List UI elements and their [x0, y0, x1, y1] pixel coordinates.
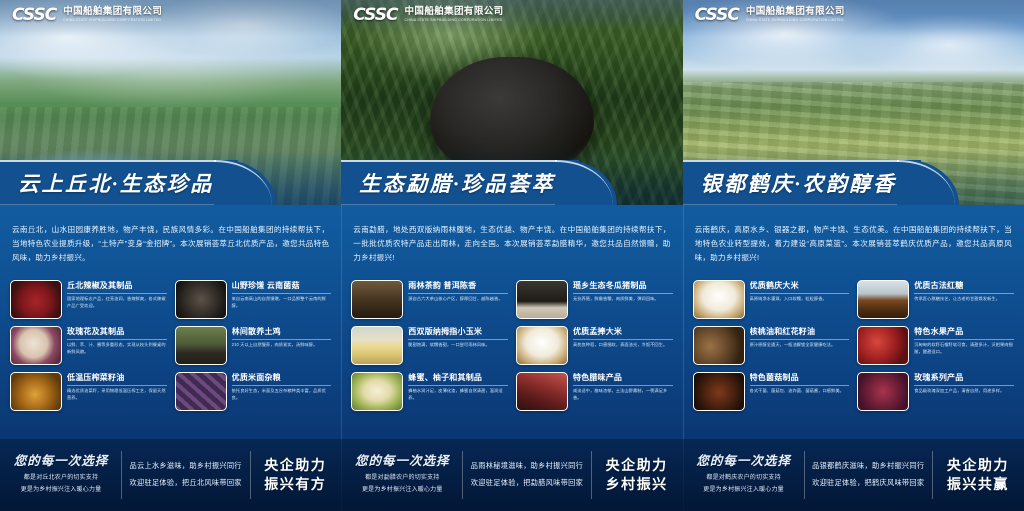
hero-banner: CSSC 中国船舶集团有限公司 CHINA STATE SHIPBUILDING… [0, 0, 341, 205]
product-card[interactable]: 核桃油和红花籽油 原汁原醇全通天，一瓶油解锁全家健康吃法。 [693, 326, 850, 365]
footer-slogan-block: 您的每一次选择 都是对鹤庆农户的切实支持 更是为乡村振兴注入暖心力量 [692, 455, 796, 496]
product-card[interactable]: 蜂蜜、柚子和其制品 蜂柚水润汁足，皮薄化渣，蜂蜜自然清甜，温润适养。 [351, 372, 508, 411]
product-title: 优质米面杂粮 [232, 373, 332, 386]
brand-text: 中国船舶集团有限公司 CHINA STATE SHIPBUILDING CORP… [746, 7, 845, 22]
product-card[interactable]: 瑶乡生态冬瓜猪制品 无抗养殖，鲜嫩香糯，肉质鲜美，弹润回味。 [516, 280, 673, 319]
footer-headline-block: 央企助力 振兴有方 [258, 456, 332, 494]
product-card[interactable]: 特色水果产品 沉甸甸的软籽石榴籽软可食，清甜多汁，沃柑果肉细腻，酸甜适口。 [857, 326, 1014, 365]
brand-name-en: CHINA STATE SHIPBUILDING CORPORATION LIM… [405, 18, 504, 22]
product-desc: 脆甜饱满，软糯香甜，一口尝尽雨林风味。 [408, 342, 508, 349]
brand-text: 中国船舶集团有限公司 CHINA STATE SHIPBUILDING CORP… [405, 7, 504, 22]
product-text: 优质米面杂粮 依托良好生态，米面及五谷杂粮种类丰富，品质优良。 [232, 372, 332, 402]
product-title: 特色菌菇制品 [750, 373, 850, 386]
footer-script-text: 您的每一次选择 [14, 455, 109, 469]
ribbon-curve [214, 160, 272, 205]
brand-logo-bar: CSSC 中国船舶集团有限公司 CHINA STATE SHIPBUILDING… [0, 0, 341, 30]
product-text: 瑶乡生态冬瓜猪制品 无抗养殖，鲜嫩香糯，肉质鲜美，弹润回味。 [573, 280, 673, 303]
footer-sub-line-1: 都是对鹤庆农户的切实支持 [706, 473, 780, 484]
footer-mid-line-2: 欢迎驻足体验，把丘北风味带回家 [129, 475, 241, 492]
product-card[interactable]: 低温压榨菜籽油 精选优质油菜籽，采用物理低温压榨工艺，保留天然营养。 [10, 372, 167, 411]
product-title: 玫瑰花及其制品 [67, 327, 167, 340]
product-text: 丘北辣椒及其制品 国家地理标志产品，红亮油润，香辣鲜爽，各式辣椒产品广受欢迎。 [67, 280, 167, 310]
cssc-logo-icon: CSSC [12, 7, 56, 24]
product-card[interactable]: 雨林茶韵 普洱陈香 源自古六大茶山核心产区，醇厚回甘，越陈越香。 [351, 280, 508, 319]
brand-logo-bar: CSSC 中国船舶集团有限公司 CHINA STATE SHIPBUILDING… [683, 0, 1024, 30]
product-title: 林间散养土鸡 [232, 327, 332, 340]
product-thumb-icon [10, 372, 62, 411]
title-ribbon: 生态勐腊·珍品荟萃 [341, 160, 682, 205]
product-desc: 蜂柚水润汁足，皮薄化渣，蜂蜜自然清甜，温润适养。 [408, 388, 508, 402]
product-text: 蜂蜜、柚子和其制品 蜂柚水润汁足，皮薄化渣，蜂蜜自然清甜，温润适养。 [408, 372, 508, 402]
product-text: 核桃油和红花籽油 原汁原醇全通天，一瓶油解锁全家健康吃法。 [750, 326, 850, 349]
product-thumb-icon [351, 326, 403, 365]
product-thumb-icon [175, 372, 227, 411]
product-desc: 沉甸甸的软籽石榴籽软可食，清甜多汁，沃柑果肉细腻，酸甜适口。 [914, 342, 1014, 356]
footer-sub-line-2: 更是为乡村振兴注入暖心力量 [703, 485, 784, 496]
title-ribbon: 银都鹤庆·农韵醇香 [683, 160, 1024, 205]
panel-intro: 云南勐腊，地处西双版纳雨林腹地，生态优越、物产丰饶。在中国船舶集团的持续帮扶下，… [341, 213, 682, 271]
product-title: 优质鹤庆大米 [750, 281, 850, 294]
product-grid: 丘北辣椒及其制品 国家地理标志产品，红亮油润，香辣鲜爽，各式辣椒产品广受欢迎。 … [0, 278, 341, 411]
product-desc: 高枕良种稻，口感细软，表面油光，冷饭不回生。 [573, 342, 673, 349]
product-text: 优质孟捧大米 高枕良种稻，口感细软，表面油光，冷饭不回生。 [573, 326, 673, 349]
footer-headline-line-1: 央企助力 [947, 456, 1009, 475]
product-grid: 优质鹤庆大米 高原纯净水灌溉，入口软糯，粒粒醇香。 优质古法红糖 传承匠心熬糖技… [683, 278, 1024, 411]
panel-title: 银都鹤庆·农韵醇香 [701, 168, 897, 198]
cssc-logo-icon: CSSC [695, 7, 739, 24]
cssc-logo-icon: CSSC [353, 7, 397, 24]
brand-name-cn: 中国船舶集团有限公司 [746, 7, 845, 18]
panel-footer: 您的每一次选择 都是对鹤庆农户的切实支持 更是为乡村振兴注入暖心力量 品银都鹤庆… [683, 439, 1024, 511]
footer-mid-line-2: 欢迎驻足体验，把鹤庆风味带回家 [812, 475, 924, 492]
panel-qiubei: CSSC 中国船舶集团有限公司 CHINA STATE SHIPBUILDING… [0, 0, 341, 511]
footer-mid-block: 品雨林秘境滋味，助乡村振兴同行 欢迎驻足体验，把勐腊风味带回家 [471, 458, 583, 491]
product-card[interactable]: 优质古法红糖 传承匠心熬糖技艺，让古老的甘甜焕发新生。 [857, 280, 1014, 319]
product-text: 西双版纳拇指小玉米 脆甜饱满，软糯香甜，一口尝尽雨林风味。 [408, 326, 508, 349]
footer-sub-line-1: 都是对丘北农户的切实支持 [24, 473, 98, 484]
product-text: 特色菌菇制品 各式干菌、菌菇包、油炸菌、菌菇酱，口感鲜美。 [750, 372, 850, 395]
product-card[interactable]: 优质鹤庆大米 高原纯净水灌溉，入口软糯，粒粒醇香。 [693, 280, 850, 319]
product-title: 核桃油和红花籽油 [750, 327, 850, 340]
product-thumb-icon [516, 280, 568, 319]
product-text: 山野珍馐 云南菌菇 来自云南高山的自然馈赠，一口品鲜整个云南的鲜醇。 [232, 280, 332, 310]
footer-sub-line-2: 更是为乡村振兴注入暖心力量 [362, 485, 443, 496]
ribbon-line [683, 160, 899, 162]
product-card[interactable]: 林间散养土鸡 210 天以上自然慢养，肉质紧实，汤鲜味醇。 [175, 326, 332, 365]
ribbon-curve [555, 160, 613, 205]
product-text: 特色水果产品 沉甸甸的软籽石榴籽软可食，清甜多汁，沃柑果肉细腻，酸甜适口。 [914, 326, 1014, 356]
product-grid: 雨林茶韵 普洱陈香 源自古六大茶山核心产区，醇厚回甘，越陈越香。 瑶乡生态冬瓜猪… [341, 278, 682, 411]
product-title: 特色腊味产品 [573, 373, 673, 386]
footer-headline-line-2: 振兴共赢 [947, 475, 1009, 494]
hero-banner: CSSC 中国船舶集团有限公司 CHINA STATE SHIPBUILDING… [341, 0, 682, 205]
panel-footer: 您的每一次选择 都是对勐腊农户的切实支持 更是为乡村振兴注入暖心力量 品雨林秘境… [341, 439, 682, 511]
footer-mid-line-1: 品云上水乡滋味，助乡村振兴同行 [129, 458, 241, 475]
panel-title: 云上丘北·生态珍品 [18, 168, 214, 198]
product-desc: 源自古六大茶山核心产区，醇厚回甘，越陈越香。 [408, 296, 508, 303]
product-thumb-icon [693, 326, 745, 365]
footer-script-text: 您的每一次选择 [696, 455, 791, 469]
footer-mid-line-2: 欢迎驻足体验，把勐腊风味带回家 [471, 475, 583, 492]
product-text: 特色腊味产品 咸淡适中，腊味浓郁，土法山野熏制，一筷满足乡香。 [573, 372, 673, 402]
product-title: 雨林茶韵 普洱陈香 [408, 281, 508, 294]
product-thumb-icon [351, 372, 403, 411]
product-thumb-icon [10, 326, 62, 365]
product-thumb-icon [351, 280, 403, 319]
product-thumb-icon [516, 326, 568, 365]
ribbon-line [341, 160, 557, 162]
product-desc: 咸淡适中，腊味浓郁，土法山野熏制，一筷满足乡香。 [573, 388, 673, 402]
ribbon-line [0, 160, 216, 162]
product-thumb-icon [693, 372, 745, 411]
ribbon-curve [897, 160, 955, 205]
product-card[interactable]: 西双版纳拇指小玉米 脆甜饱满，软糯香甜，一口尝尽雨林风味。 [351, 326, 508, 365]
footer-mid-line-1: 品银都鹤庆滋味，助乡村振兴同行 [812, 458, 924, 475]
panel-intro: 云南鹤庆，高原水乡、银器之都，物产丰饶、生态优美。在中国船舶集团的持续帮扶下，当… [683, 213, 1024, 271]
product-thumb-icon [516, 372, 568, 411]
footer-slogan-block: 您的每一次选择 都是对丘北农户的切实支持 更是为乡村振兴注入暖心力量 [9, 455, 113, 496]
brand-name-en: CHINA STATE SHIPBUILDING CORPORATION LIM… [746, 18, 845, 22]
footer-script-text: 您的每一次选择 [355, 455, 450, 469]
product-desc: 高原纯净水灌溉，入口软糯，粒粒醇香。 [750, 296, 850, 303]
footer-slogan-block: 您的每一次选择 都是对勐腊农户的切实支持 更是为乡村振兴注入暖心力量 [350, 455, 454, 496]
product-thumb-icon [175, 280, 227, 319]
product-text: 玫瑰花及其制品 以鲜、萃、汁、酱等多重形态，实现从枝头到餐桌的新鲜风貌。 [67, 326, 167, 356]
poster-board: CSSC 中国船舶集团有限公司 CHINA STATE SHIPBUILDING… [0, 0, 1024, 511]
footer-headline-line-2: 振兴有方 [264, 475, 326, 494]
product-desc: 国家地理标志产品，红亮油润，香辣鲜爽，各式辣椒产品广受欢迎。 [67, 296, 167, 310]
product-text: 优质鹤庆大米 高原纯净水灌溉，入口软糯，粒粒醇香。 [750, 280, 850, 303]
product-card[interactable]: 丘北辣椒及其制品 国家地理标志产品，红亮油润，香辣鲜爽，各式辣椒产品广受欢迎。 [10, 280, 167, 319]
footer-headline-line-1: 央企助力 [606, 456, 668, 475]
product-card[interactable]: 特色腊味产品 咸淡适中，腊味浓郁，土法山野熏制，一筷满足乡香。 [516, 372, 673, 411]
product-title: 蜂蜜、柚子和其制品 [408, 373, 508, 386]
product-text: 优质古法红糖 传承匠心熬糖技艺，让古老的甘甜焕发新生。 [914, 280, 1014, 303]
product-desc: 传承匠心熬糖技艺，让古老的甘甜焕发新生。 [914, 296, 1014, 303]
product-card[interactable]: 玫瑰花及其制品 以鲜、萃、汁、酱等多重形态，实现从枝头到餐桌的新鲜风貌。 [10, 326, 167, 365]
product-text: 玫瑰系列产品 食品级玫瑰深加工产品，清香自然，用途多样。 [914, 372, 1014, 395]
product-card[interactable]: 玫瑰系列产品 食品级玫瑰深加工产品，清香自然，用途多样。 [857, 372, 1014, 411]
product-thumb-icon [857, 280, 909, 319]
product-thumb-icon [857, 326, 909, 365]
panel-intro: 云南丘北，山水田园康养胜地，物产丰饶，民族风情多彩。在中国船舶集团的持续帮扶下，… [0, 213, 341, 271]
product-thumb-icon [693, 280, 745, 319]
product-desc: 原汁原醇全通天，一瓶油解锁全家健康吃法。 [750, 342, 850, 349]
product-title: 瑶乡生态冬瓜猪制品 [573, 281, 673, 294]
footer-headline-block: 央企助力 乡村振兴 [600, 456, 674, 494]
brand-name-cn: 中国船舶集团有限公司 [63, 7, 162, 18]
product-desc: 依托良好生态，米面及五谷杂粮种类丰富，品质优良。 [232, 388, 332, 402]
footer-sub-line-1: 都是对勐腊农户的切实支持 [365, 473, 439, 484]
footer-mid-line-1: 品雨林秘境滋味，助乡村振兴同行 [471, 458, 583, 475]
panel-mengla: CSSC 中国船舶集团有限公司 CHINA STATE SHIPBUILDING… [341, 0, 682, 511]
product-title: 丘北辣椒及其制品 [67, 281, 167, 294]
product-text: 低温压榨菜籽油 精选优质油菜籽，采用物理低温压榨工艺，保留天然营养。 [67, 372, 167, 402]
product-card[interactable]: 山野珍馐 云南菌菇 来自云南高山的自然馈赠，一口品鲜整个云南的鲜醇。 [175, 280, 332, 319]
product-desc: 来自云南高山的自然馈赠，一口品鲜整个云南的鲜醇。 [232, 296, 332, 310]
brand-logo-bar: CSSC 中国船舶集团有限公司 CHINA STATE SHIPBUILDING… [341, 0, 682, 30]
footer-sub-line-2: 更是为乡村振兴注入暖心力量 [21, 485, 102, 496]
brand-name-cn: 中国船舶集团有限公司 [405, 7, 504, 18]
product-desc: 食品级玫瑰深加工产品，清香自然，用途多样。 [914, 388, 1014, 395]
product-thumb-icon [10, 280, 62, 319]
product-title: 特色水果产品 [914, 327, 1014, 340]
product-card[interactable]: 优质米面杂粮 依托良好生态，米面及五谷杂粮种类丰富，品质优良。 [175, 372, 332, 411]
product-title: 优质古法红糖 [914, 281, 1014, 294]
product-text: 林间散养土鸡 210 天以上自然慢养，肉质紧实，汤鲜味醇。 [232, 326, 332, 349]
footer-mid-block: 品云上水乡滋味，助乡村振兴同行 欢迎驻足体验，把丘北风味带回家 [129, 458, 241, 491]
panel-heqing: CSSC 中国船舶集团有限公司 CHINA STATE SHIPBUILDING… [683, 0, 1024, 511]
panel-title: 生态勐腊·珍品荟萃 [359, 168, 555, 198]
product-desc: 210 天以上自然慢养，肉质紧实，汤鲜味醇。 [232, 342, 332, 349]
product-card[interactable]: 优质孟捧大米 高枕良种稻，口感细软，表面油光，冷饭不回生。 [516, 326, 673, 365]
product-title: 西双版纳拇指小玉米 [408, 327, 508, 340]
brand-name-en: CHINA STATE SHIPBUILDING CORPORATION LIM… [63, 18, 162, 22]
product-title: 玫瑰系列产品 [914, 373, 1014, 386]
product-text: 雨林茶韵 普洱陈香 源自古六大茶山核心产区，醇厚回甘，越陈越香。 [408, 280, 508, 303]
product-title: 优质孟捧大米 [573, 327, 673, 340]
product-desc: 各式干菌、菌菇包、油炸菌、菌菇酱，口感鲜美。 [750, 388, 850, 395]
product-desc: 精选优质油菜籽，采用物理低温压榨工艺，保留天然营养。 [67, 388, 167, 402]
product-thumb-icon [857, 372, 909, 411]
product-title: 山野珍馐 云南菌菇 [232, 281, 332, 294]
footer-headline-block: 央企助力 振兴共赢 [941, 456, 1015, 494]
product-title: 低温压榨菜籽油 [67, 373, 167, 386]
product-card[interactable]: 特色菌菇制品 各式干菌、菌菇包、油炸菌、菌菇酱，口感鲜美。 [693, 372, 850, 411]
brand-text: 中国船舶集团有限公司 CHINA STATE SHIPBUILDING CORP… [63, 7, 162, 22]
footer-headline-line-1: 央企助力 [264, 456, 326, 475]
hero-banner: CSSC 中国船舶集团有限公司 CHINA STATE SHIPBUILDING… [683, 0, 1024, 205]
footer-headline-line-2: 乡村振兴 [606, 475, 668, 494]
title-ribbon: 云上丘北·生态珍品 [0, 160, 341, 205]
panel-footer: 您的每一次选择 都是对丘北农户的切实支持 更是为乡村振兴注入暖心力量 品云上水乡… [0, 439, 341, 511]
product-desc: 以鲜、萃、汁、酱等多重形态，实现从枝头到餐桌的新鲜风貌。 [67, 342, 167, 356]
product-desc: 无抗养殖，鲜嫩香糯，肉质鲜美，弹润回味。 [573, 296, 673, 303]
product-thumb-icon [175, 326, 227, 365]
footer-mid-block: 品银都鹤庆滋味，助乡村振兴同行 欢迎驻足体验，把鹤庆风味带回家 [812, 458, 924, 491]
